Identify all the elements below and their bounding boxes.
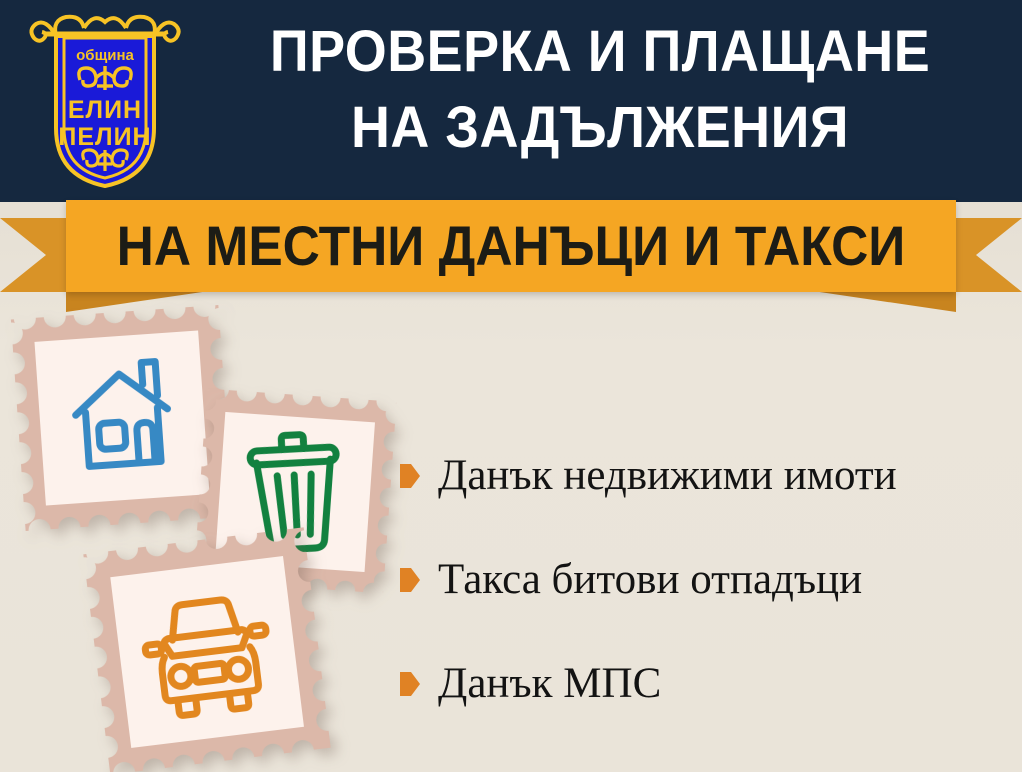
page-title-line-2: НА ЗАДЪЛЖЕНИЯ: [219, 90, 982, 166]
list-item-label: Такса битови отпадъци: [438, 556, 862, 604]
list-item[interactable]: Такса битови отпадъци: [400, 528, 1010, 632]
poster-canvas: община ЕЛИН ПЕЛИН ПРОВЕРКА И П: [0, 0, 1022, 772]
ribbon-banner: НА МЕСТНИ ДАНЪЦИ И ТАКСИ: [66, 200, 956, 292]
svg-text:община: община: [76, 47, 134, 64]
list-item-label: Данък недвижими имоти: [438, 452, 897, 500]
ribbon-fold-right: [806, 290, 956, 312]
bullet-arrow-icon: [400, 568, 420, 592]
bullet-arrow-icon: [400, 672, 420, 696]
page-title: ПРОВЕРКА И ПЛАЩАНЕ НА ЗАДЪЛЖЕНИЯ: [219, 14, 982, 166]
municipality-emblem-icon: община ЕЛИН ПЕЛИН: [26, 8, 184, 190]
list-item[interactable]: Данък МПС: [400, 632, 1010, 736]
ribbon-label: НА МЕСТНИ ДАНЪЦИ И ТАКСИ: [102, 200, 921, 292]
page-title-line-1: ПРОВЕРКА И ПЛАЩАНЕ: [270, 19, 930, 84]
list-item-label: Данък МПС: [438, 660, 661, 708]
list-item[interactable]: Данък недвижими имоти: [400, 424, 1010, 528]
stamp-card-vehicle: [83, 527, 330, 772]
bullet-arrow-icon: [400, 464, 420, 488]
svg-text:ЕЛИН: ЕЛИН: [68, 96, 142, 124]
svg-text:ПЕЛИН: ПЕЛИН: [58, 123, 151, 151]
tax-type-list: Данък недвижими имоти Такса битови отпад…: [400, 424, 1010, 736]
